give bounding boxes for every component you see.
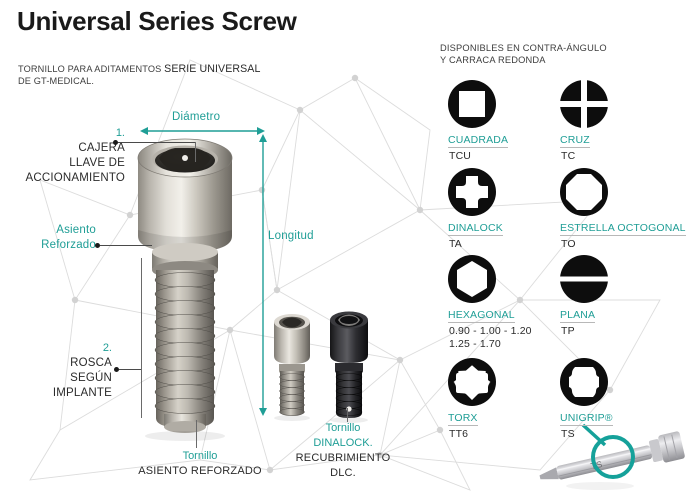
main-screw-illustration xyxy=(100,118,270,448)
callout-1-line1: CAJERA xyxy=(78,142,125,154)
subtitle-block: TORNILLO PARA ADITAMENTOS SERIE UNIVERSA… xyxy=(18,63,268,87)
callout-3-leader xyxy=(119,369,141,370)
square-drive-icon xyxy=(448,80,496,128)
drive-name-torx: TORX xyxy=(448,412,478,426)
drive-type-cruz[interactable]: CRUZ TC xyxy=(560,80,670,150)
callout-2-dot xyxy=(95,243,100,248)
caption-dinalock: Tornillo DINALOCK. RECUBRIMIENTO DLC. xyxy=(288,420,398,480)
subtitle-line1: TORNILLO PARA ADITAMENTOS xyxy=(18,64,161,74)
screwdriver-illustration: TS xyxy=(530,420,700,500)
cross-drive-icon xyxy=(560,80,608,128)
octagon-drive-icon xyxy=(560,168,608,216)
callout-asiento: Asiento Reforzado xyxy=(6,222,96,252)
drive-code-torx: TT6 xyxy=(449,428,468,441)
drive-name-plana: PLANA xyxy=(560,309,595,323)
callout-3-number: 2. xyxy=(103,342,112,354)
drive-name-cuadrada: CUADRADA xyxy=(448,134,508,148)
drive-types-header: DISPONIBLES EN CONTRA-ÁNGULO Y CARRACA R… xyxy=(440,42,607,66)
callout-cajera: 1. CAJERA LLAVE DE ACCIONAMIENTO xyxy=(0,125,125,185)
subtitle-line2: DE GT-MEDICAL. xyxy=(18,76,94,86)
caption-right-line2: DINALOCK. xyxy=(313,437,372,449)
drive-code-estrella-octogonal: TO xyxy=(561,238,576,251)
page-title: Universal Series Screw xyxy=(17,6,297,37)
callout-1-line3: ACCIONAMIENTO xyxy=(25,172,125,184)
drive-header-line1: DISPONIBLES EN CONTRA-ÁNGULO xyxy=(440,43,607,53)
drive-code-cuadrada: TCU xyxy=(449,150,471,163)
drive-name-cruz: CRUZ xyxy=(560,134,590,148)
caption-right-line1: Tornillo xyxy=(326,422,361,434)
subtitle-brand: SERIE UNIVERSAL xyxy=(164,63,260,75)
callout-3-leader-vertical xyxy=(141,258,142,418)
drive-code-unigrip: TS xyxy=(561,428,575,441)
dinalock-drive-icon xyxy=(448,168,496,216)
screwdriver-connector-line xyxy=(583,425,605,445)
caption-right-line3: RECUBRIMIENTO DLC. xyxy=(296,452,391,479)
caption-left-line2: ASIENTO REFORZADO xyxy=(138,465,262,477)
callout-2-line2: Reforzado xyxy=(41,239,96,251)
drive-type-unigrip[interactable]: UNIGRIP® TS xyxy=(560,358,670,428)
diameter-arrow xyxy=(140,124,265,138)
length-label: Longitud xyxy=(268,230,314,242)
caption-left-line1: Tornillo xyxy=(183,450,218,462)
flat-drive-icon xyxy=(560,255,608,303)
diameter-label: Diámetro xyxy=(172,111,220,123)
callout-2-line1: Asiento xyxy=(56,224,96,236)
drive-code-plana: TP xyxy=(561,325,575,338)
drive-name-unigrip: UNIGRIP® xyxy=(560,412,613,426)
drive-code-hexagonal: 0.90 - 1.00 - 1.20 1.25 - 1.70 xyxy=(449,325,532,350)
small-steel-screw-illustration xyxy=(265,308,320,423)
callout-1-dot xyxy=(113,140,118,145)
callout-3-dot xyxy=(114,367,119,372)
drive-type-plana[interactable]: PLANA TP xyxy=(560,255,670,325)
callout-3-line3: IMPLANTE xyxy=(53,387,112,399)
callout-1-line2: LLAVE DE xyxy=(69,157,125,169)
caption-asiento-reforzado: Tornillo ASIENTO REFORZADO xyxy=(105,448,295,478)
infographic-canvas: Universal Series Screw TORNILLO PARA ADI… xyxy=(0,0,700,500)
drive-type-torx[interactable]: TORX TT6 xyxy=(448,358,558,428)
small-dinalock-screw-illustration xyxy=(320,305,378,425)
drive-code-dinalock: TA xyxy=(449,238,462,251)
unigrip-drive-icon xyxy=(560,358,608,406)
callout-1-leader-vertical xyxy=(195,142,196,162)
length-arrow xyxy=(256,134,270,416)
torx-drive-icon xyxy=(448,358,496,406)
drive-name-estrella-octogonal: ESTRELLA OCTOGONAL xyxy=(560,222,686,236)
drive-type-cuadrada[interactable]: CUADRADA TCU xyxy=(448,80,558,150)
callout-rosca: 2. ROSCA SEGÚN IMPLANTE xyxy=(0,340,112,400)
drive-type-estrella-octogonal[interactable]: ESTRELLA OCTOGONAL TO xyxy=(560,168,690,238)
drive-type-dinalock[interactable]: DINALOCK TA xyxy=(448,168,558,238)
hexagon-drive-icon xyxy=(448,255,496,303)
callout-2-leader xyxy=(100,245,152,246)
drive-header-line2: Y CARRACA REDONDA xyxy=(440,55,546,65)
callout-1-leader xyxy=(118,142,195,143)
drive-name-hexagonal: HEXAGONAL xyxy=(448,309,515,323)
callout-3-line2: SEGÚN xyxy=(70,372,112,384)
callout-1-number: 1. xyxy=(116,127,125,139)
caption-left-leader xyxy=(196,420,197,448)
drive-name-dinalock: DINALOCK xyxy=(448,222,503,236)
callout-3-line1: ROSCA xyxy=(70,357,112,369)
drive-code-cruz: TC xyxy=(561,150,575,163)
drive-type-hexagonal[interactable]: HEXAGONAL 0.90 - 1.00 - 1.20 1.25 - 1.70 xyxy=(448,255,568,335)
